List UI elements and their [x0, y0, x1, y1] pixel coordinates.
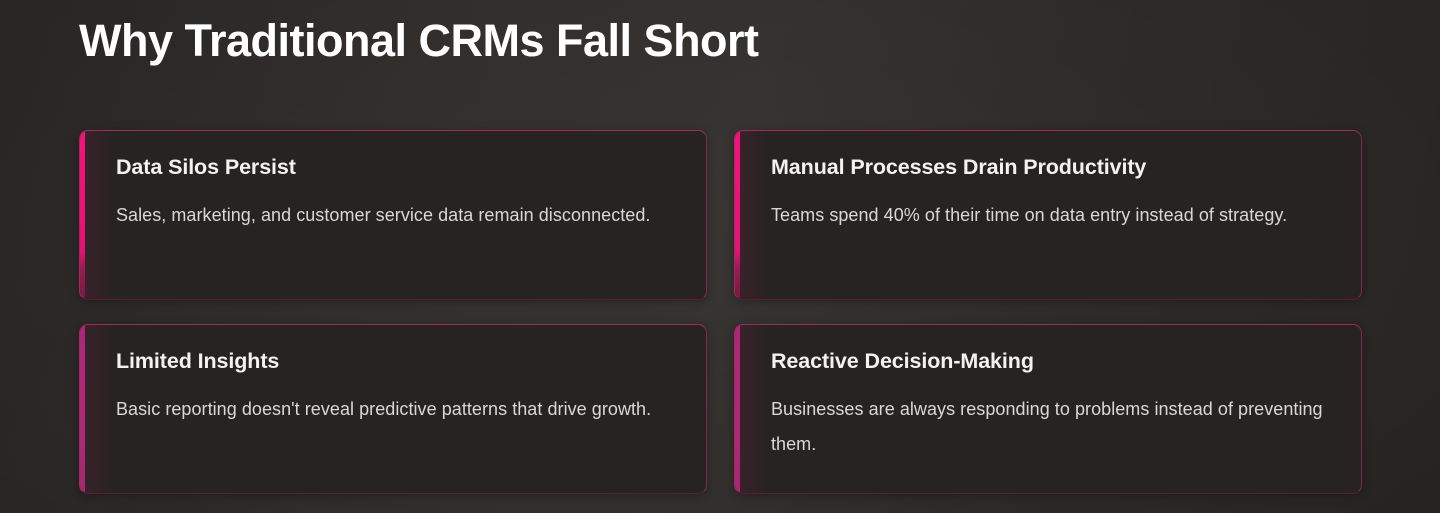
card-reactive-decision-making[interactable]: Reactive Decision-Making Businesses are … [734, 324, 1362, 494]
card-manual-processes-drain-productivity[interactable]: Manual Processes Drain Productivity Team… [734, 130, 1362, 300]
card-body: Limited Insights Basic reporting doesn't… [80, 325, 706, 427]
card-description: Teams spend 40% of their time on data en… [771, 198, 1331, 233]
card-body: Data Silos Persist Sales, marketing, and… [80, 131, 706, 233]
page-title: Why Traditional CRMs Fall Short [79, 15, 759, 67]
card-description: Basic reporting doesn't reveal predictiv… [116, 392, 676, 427]
card-title: Limited Insights [116, 349, 676, 375]
page-root: Why Traditional CRMs Fall Short Data Sil… [0, 0, 1440, 513]
card-description: Sales, marketing, and customer service d… [116, 198, 676, 233]
card-limited-insights[interactable]: Limited Insights Basic reporting doesn't… [79, 324, 707, 494]
card-data-silos-persist[interactable]: Data Silos Persist Sales, marketing, and… [79, 130, 707, 300]
card-title: Reactive Decision-Making [771, 349, 1331, 375]
card-title: Data Silos Persist [116, 155, 676, 181]
card-body: Reactive Decision-Making Businesses are … [735, 325, 1361, 462]
card-title: Manual Processes Drain Productivity [771, 155, 1331, 181]
card-body: Manual Processes Drain Productivity Team… [735, 131, 1361, 233]
card-description: Businesses are always responding to prob… [771, 392, 1331, 462]
pain-point-card-grid: Data Silos Persist Sales, marketing, and… [79, 130, 1362, 494]
